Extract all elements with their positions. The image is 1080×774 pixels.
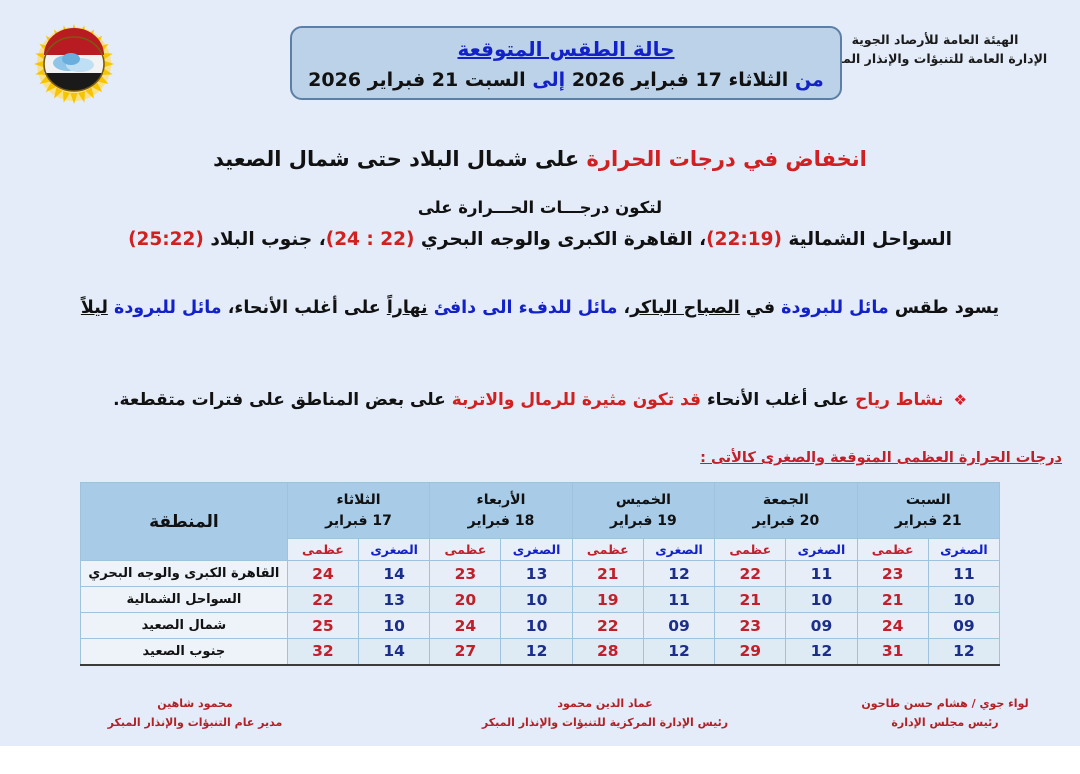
signature-middle-title: رئيس الإدارة المركزية للتنبؤات والإنذار … [440,713,770,732]
cell-r1-c6: 10 [501,587,572,613]
subheader-min-2: الصغرى [643,539,714,561]
headline-rest: على شمال البلاد حتى شمال الصعيد [213,147,579,171]
diamond-bullet-icon: ❖ [953,391,966,409]
cell-r3-c0: 12 [928,639,999,665]
cell-r2-c8: 10 [359,613,430,639]
subheader-min-3: الصغرى [501,539,572,561]
cell-r1-c0: 10 [928,587,999,613]
cell-r3-c5: 28 [572,639,643,665]
weather-cold-night: مائل للبرودة [114,298,222,318]
cell-r3-c8: 14 [359,639,430,665]
day-name-4: الثلاثاء [290,490,427,511]
cell-r0-c4: 12 [643,561,714,587]
main-headline: انخفاض في درجات الحرارة على شمال البلاد … [0,147,1080,171]
signature-middle-name: عماد الدين محمود [440,694,770,713]
subheader-max-3: عظمى [430,539,501,561]
wind-activity-label: نشاط رياح [855,390,943,410]
forecast-page: الهيئة العامة للأرصاد الجوية الإدارة الع… [0,0,1080,774]
date-range: من الثلاثاء 17 فبراير 2026 إلى السبت 21 … [292,66,840,95]
cell-r3-c1: 31 [857,639,928,665]
table-caption: درجات الحرارة العظمى المتوقعة والصغرى كا… [700,450,1062,466]
temp-region-1-label: السواحل الشمالية [788,229,952,250]
cell-r0-c2: 11 [786,561,857,587]
subheader-min-0: الصغرى [928,539,999,561]
weather-description: يسود طقس مائل للبرودة في الصباح الباكر، … [0,298,1080,318]
weather-time-morning: الصباح الباكر [630,298,740,318]
temp-region-2-value: (22 : 24) [326,229,415,250]
cell-r3-c7: 27 [430,639,501,665]
table-day-header-3: الأربعاء 18 فبراير [430,483,572,539]
day-name-2: الخميس [575,490,712,511]
day-date-2: 19 فبراير [575,511,712,532]
cell-r3-c9: 32 [287,639,358,665]
cell-r2-c7: 24 [430,613,501,639]
day-date-3: 18 فبراير [432,511,569,532]
subheader-max-1: عظمى [715,539,786,561]
row-region-3: جنوب الصعيد [81,639,288,665]
row-region-0: القاهرة الكبرى والوجه البحري [81,561,288,587]
subheader-min-1: الصغرى [786,539,857,561]
ema-logo [28,24,120,104]
cell-r2-c6: 10 [501,613,572,639]
day-date-1: 20 فبراير [717,511,854,532]
cell-r0-c6: 13 [501,561,572,587]
temperature-ranges: السواحل الشمالية (22:19)، القاهرة الكبرى… [0,229,1080,250]
cell-r2-c5: 22 [572,613,643,639]
signature-left: لواء جوي / هشام حسن طاحون رئيس مجلس الإد… [820,694,1070,733]
org-line-2: الإدارة العامة للتنبؤات والإنذار المبكر [810,49,1060,68]
table-row: 11 23 11 22 12 21 13 23 14 24 القاهرة ال… [81,561,1000,587]
cell-r0-c1: 23 [857,561,928,587]
date-range-start: الثلاثاء 17 فبراير 2026 [572,69,789,91]
wind-advisory: ❖ نشاط رياح على أغلب الأنحاء قد تكون مثي… [0,390,1080,410]
day-name-1: الجمعة [717,490,854,511]
subheader-min-4: الصغرى [359,539,430,561]
ema-sun-logo-icon [28,24,120,104]
cell-r0-c5: 21 [572,561,643,587]
cell-r2-c9: 25 [287,613,358,639]
table-region-header: المنطقة [81,483,288,561]
wind-dust-warning: قد تكون مثيرة للرمال والاتربة [452,390,701,410]
cell-r1-c9: 22 [287,587,358,613]
page-footer: محمود شاهين مدير عام التنبؤات والإنذار ا… [0,694,1080,744]
headline-emphasis: انخفاض في درجات الحرارة [587,147,867,171]
temp-sep-2: ، [312,229,325,250]
cell-r1-c7: 20 [430,587,501,613]
row-region-1: السواحل الشمالية [81,587,288,613]
signature-left-name: لواء جوي / هشام حسن طاحون [820,694,1070,713]
table-header-days: السبت 21 فبراير الجمعة 20 فبراير الخميس … [81,483,1000,539]
weather-time-day: نهاراً [387,298,428,318]
temp-region-3-label: جنوب البلاد [210,229,312,250]
table-row: 12 31 12 29 12 28 12 27 14 32 جنوب الصعي… [81,639,1000,665]
temperature-intro: لتكون درجـــات الحـــرارة على [0,198,1080,217]
bottom-white-strip [0,746,1080,774]
cell-r0-c9: 24 [287,561,358,587]
weather-warm-day: مائل للدفء الى دافئ [434,298,618,318]
cell-r1-c4: 11 [643,587,714,613]
table-day-header-1: الجمعة 20 فبراير [715,483,857,539]
cell-r1-c3: 21 [715,587,786,613]
cell-r2-c2: 09 [786,613,857,639]
cell-r3-c2: 12 [786,639,857,665]
title-banner: حالة الطقس المتوقعة من الثلاثاء 17 فبراي… [290,26,842,100]
date-range-to-label: إلى [532,69,565,91]
cell-r3-c6: 12 [501,639,572,665]
table-day-header-4: الثلاثاء 17 فبراير [287,483,429,539]
temp-sep-1: ، [693,229,706,250]
forecast-table-wrap: السبت 21 فبراير الجمعة 20 فبراير الخميس … [80,482,1000,666]
day-date-4: 17 فبراير [290,511,427,532]
table-row: 09 24 09 23 09 22 10 24 10 25 شمال الصعي… [81,613,1000,639]
cell-r1-c1: 21 [857,587,928,613]
temp-region-3-value: (25:22) [128,229,204,250]
signature-left-title: رئيس مجلس الإدارة [820,713,1070,732]
row-region-2: شمال الصعيد [81,613,288,639]
signature-middle: عماد الدين محمود رئيس الإدارة المركزية ل… [440,694,770,733]
day-name-0: السبت [860,490,997,511]
wind-part-4: على بعض المناطق على فترات متقطعة. [113,390,446,410]
signature-right: محمود شاهين مدير عام التنبؤات والإنذار ا… [70,694,320,733]
cell-r2-c0: 09 [928,613,999,639]
subheader-max-4: عظمى [287,539,358,561]
cell-r2-c3: 23 [715,613,786,639]
signature-right-name: محمود شاهين [70,694,320,713]
weather-cold-morning: مائل للبرودة [781,298,889,318]
date-range-from-label: من [795,69,824,91]
weather-part-8: على أغلب الأنحاء، [228,298,381,318]
cell-r0-c3: 22 [715,561,786,587]
temp-region-1-value: (22:19) [706,229,782,250]
cell-r3-c4: 12 [643,639,714,665]
cell-r1-c8: 13 [359,587,430,613]
page-header: الهيئة العامة للأرصاد الجوية الإدارة الع… [0,0,1080,118]
day-date-0: 21 فبراير [860,511,997,532]
weather-part-1: يسود طقس [895,298,999,318]
table-day-header-0: السبت 21 فبراير [857,483,999,539]
page-title: حالة الطقس المتوقعة [292,34,840,64]
organization-name: الهيئة العامة للأرصاد الجوية الإدارة الع… [810,30,1060,69]
org-line-1: الهيئة العامة للأرصاد الجوية [810,30,1060,49]
cell-r2-c1: 24 [857,613,928,639]
table-day-header-2: الخميس 19 فبراير [572,483,714,539]
weather-part-3: في [746,298,775,318]
day-name-3: الأربعاء [432,490,569,511]
cell-r1-c2: 10 [786,587,857,613]
subheader-max-2: عظمى [572,539,643,561]
cell-r0-c8: 14 [359,561,430,587]
wind-part-2: على أغلب الأنحاء [707,390,849,410]
forecast-table: السبت 21 فبراير الجمعة 20 فبراير الخميس … [80,482,1000,666]
cell-r2-c4: 09 [643,613,714,639]
weather-time-night: ليلاً [81,298,108,318]
table-row: 10 21 10 21 11 19 10 20 13 22 السواحل ال… [81,587,1000,613]
temp-region-2-label: القاهرة الكبرى والوجه البحري [421,229,693,250]
cell-r3-c3: 29 [715,639,786,665]
cell-r0-c0: 11 [928,561,999,587]
date-range-end: السبت 21 فبراير 2026 [308,69,526,91]
subheader-max-0: عظمى [857,539,928,561]
cell-r0-c7: 23 [430,561,501,587]
signature-right-title: مدير عام التنبؤات والإنذار المبكر [70,713,320,732]
cell-r1-c5: 19 [572,587,643,613]
